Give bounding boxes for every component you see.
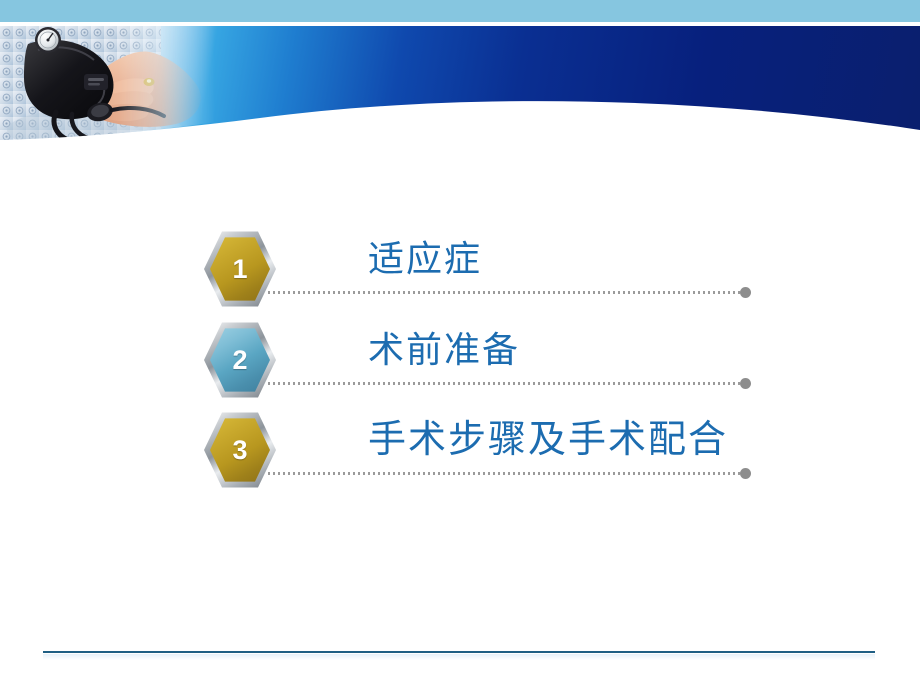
connector-end-dot xyxy=(740,287,751,298)
agenda-item-1[interactable]: 1 适应症 xyxy=(0,226,920,316)
agenda-item-3[interactable]: 3 手术步骤及手术配合 xyxy=(0,407,920,497)
connector-dotted-line xyxy=(268,291,740,294)
footer-divider-glow xyxy=(43,654,875,660)
agenda-item-2[interactable]: 2 术前准备 xyxy=(0,317,920,407)
connector-end-dot xyxy=(740,378,751,389)
agenda-badge-1[interactable]: 1 xyxy=(204,230,276,308)
agenda-badge-2[interactable]: 2 xyxy=(204,321,276,399)
connector-dotted-line xyxy=(268,472,740,475)
agenda-number-2: 2 xyxy=(232,347,247,374)
agenda-title-3: 手术步骤及手术配合 xyxy=(368,415,728,463)
agenda-title-2: 术前准备 xyxy=(368,327,520,375)
agenda-number-1: 1 xyxy=(232,256,247,283)
connector-dotted-line xyxy=(268,382,740,385)
footer-divider xyxy=(43,651,875,653)
agenda-list: 1 适应症 2 术前准备 3 xyxy=(0,0,920,690)
agenda-title-1: 适应症 xyxy=(368,236,482,284)
agenda-number-3: 3 xyxy=(232,437,247,464)
slide-canvas: 1 适应症 2 术前准备 3 xyxy=(0,0,920,690)
agenda-badge-3[interactable]: 3 xyxy=(204,411,276,489)
connector-end-dot xyxy=(740,468,751,479)
